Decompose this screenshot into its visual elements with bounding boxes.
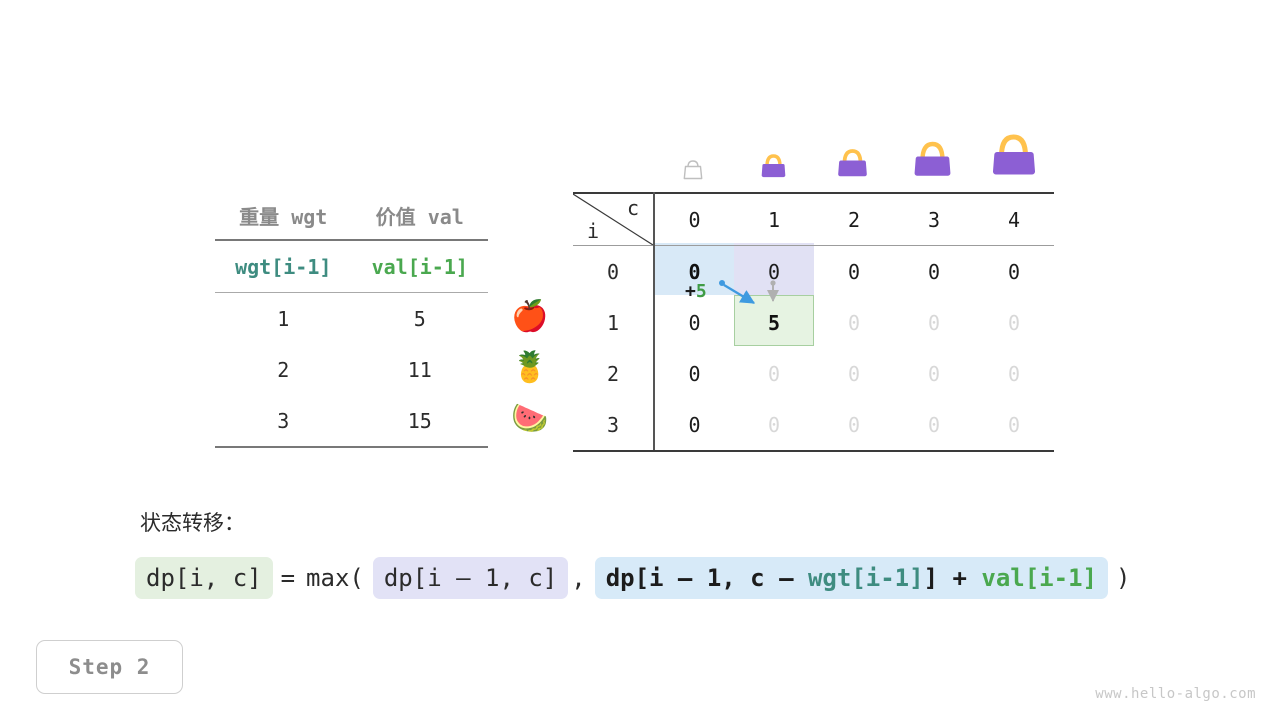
dp-row-header-3: 3: [573, 399, 654, 451]
item-weight-3: 3: [215, 395, 352, 447]
gain-value: 5: [696, 281, 707, 302]
item-value-2: 11: [352, 344, 489, 395]
apple-emoji: 🍎: [505, 302, 555, 332]
bag-icon-capacity-4: [986, 125, 1041, 180]
dp-table-grid: i c 0 1 2 3 4 0 0 0 0 0 0 1 0 5 0 0 0 2: [573, 192, 1054, 452]
dp-col-header-4: 4: [974, 193, 1054, 246]
item-value-3: 15: [352, 395, 489, 447]
dp-cell-3-0: 0: [654, 399, 734, 451]
dp-cell-2-4: 0: [974, 348, 1054, 399]
dp-cell-0-2: 0: [814, 246, 894, 298]
dp-row-header-2: 2: [573, 348, 654, 399]
item-weight-1: 1: [215, 293, 352, 345]
dp-cell-0-3: 0: [894, 246, 974, 298]
dp-col-header-0: 0: [654, 193, 734, 246]
dp-col-header-3: 3: [894, 193, 974, 246]
formula-arg-skip: dp[i – 1, c]: [373, 557, 568, 599]
dp-row-1: 1 0 5 0 0 0: [573, 297, 1054, 348]
items-header-value: 价值 val: [352, 192, 489, 240]
dp-header-row: i c 0 1 2 3 4: [573, 193, 1054, 246]
item-value-1: 5: [352, 293, 489, 345]
dp-cell-2-0: 0: [654, 348, 734, 399]
state-transition-label: 状态转移：: [140, 507, 245, 537]
dp-row-header-0: 0: [573, 246, 654, 298]
items-var-wgt: wgt[i-1]: [215, 240, 352, 293]
bag-icon-capacity-3: [909, 133, 956, 180]
formula-arg-take-prefix: dp[i – 1, c –: [606, 564, 808, 592]
dp-cell-2-2: 0: [814, 348, 894, 399]
bag-icon-capacity-2: [833, 141, 872, 180]
dp-row-2: 2 0 0 0 0 0: [573, 348, 1054, 399]
watermelon-emoji: 🍉: [505, 404, 555, 434]
state-transition-formula: dp[i, c] = max( dp[i – 1, c] , dp[i – 1,…: [135, 557, 1138, 599]
watermark: www.hello-algo.com: [1095, 686, 1256, 702]
formula-lhs: dp[i, c]: [135, 557, 273, 599]
dp-cell-1-1: 5: [734, 297, 814, 348]
table-row: 3 15: [215, 395, 488, 447]
axis-label-c: c: [627, 196, 639, 220]
dp-cell-3-4: 0: [974, 399, 1054, 451]
dp-cell-1-0: 0: [654, 297, 734, 348]
items-header-weight: 重量 wgt: [215, 192, 352, 240]
dp-cell-1-3: 0: [894, 297, 974, 348]
dp-row-3: 3 0 0 0 0 0: [573, 399, 1054, 451]
dp-table: i c 0 1 2 3 4 0 0 0 0 0 0 1 0 5 0 0 0 2: [573, 192, 1054, 443]
items-table-variable-row: wgt[i-1] val[i-1]: [215, 240, 488, 293]
items-table-header-row: 重量 wgt 价值 val: [215, 192, 488, 240]
dp-cell-2-3: 0: [894, 348, 974, 399]
dp-row-header-1: 1: [573, 297, 654, 348]
item-weight-2: 2: [215, 344, 352, 395]
gain-annotation: +5: [685, 281, 707, 302]
gain-sign: +: [685, 281, 696, 302]
table-row: 2 11: [215, 344, 488, 395]
diagonal-divider-icon: [573, 194, 653, 245]
pineapple-emoji: 🍍: [505, 353, 555, 383]
dp-row-0: 0 0 0 0 0 0: [573, 246, 1054, 298]
formula-token-wgt: wgt[i-1]: [808, 564, 924, 592]
dp-cell-3-3: 0: [894, 399, 974, 451]
formula-max-open: max(: [303, 564, 367, 592]
formula-equals: =: [273, 564, 303, 592]
formula-comma: ,: [568, 564, 588, 592]
dp-cell-3-2: 0: [814, 399, 894, 451]
dp-cell-1-4: 0: [974, 297, 1054, 348]
bag-icon-capacity-0: [680, 158, 706, 180]
bag-icon-capacity-1: [757, 147, 790, 180]
dp-cell-0-1: 0: [734, 246, 814, 298]
dp-cell-3-1: 0: [734, 399, 814, 451]
items-table: 重量 wgt 价值 val wgt[i-1] val[i-1] 1 5 2 11…: [215, 192, 488, 448]
formula-token-val: val[i-1]: [981, 564, 1097, 592]
axis-label-i: i: [587, 219, 599, 243]
table-row: 1 5: [215, 293, 488, 345]
step-badge: Step 2: [36, 640, 183, 694]
items-var-val: val[i-1]: [352, 240, 489, 293]
dp-col-header-1: 1: [734, 193, 814, 246]
items-table-grid: 重量 wgt 价值 val wgt[i-1] val[i-1] 1 5 2 11…: [215, 192, 488, 448]
dp-axis-corner: i c: [573, 193, 654, 246]
dp-cell-0-4: 0: [974, 246, 1054, 298]
formula-arg-take-mid: ] +: [924, 564, 982, 592]
formula-close-paren: ): [1108, 564, 1138, 592]
dp-col-header-2: 2: [814, 193, 894, 246]
dp-cell-1-2: 0: [814, 297, 894, 348]
dp-cell-2-1: 0: [734, 348, 814, 399]
formula-arg-take: dp[i – 1, c – wgt[i-1]] + val[i-1]: [595, 557, 1108, 599]
